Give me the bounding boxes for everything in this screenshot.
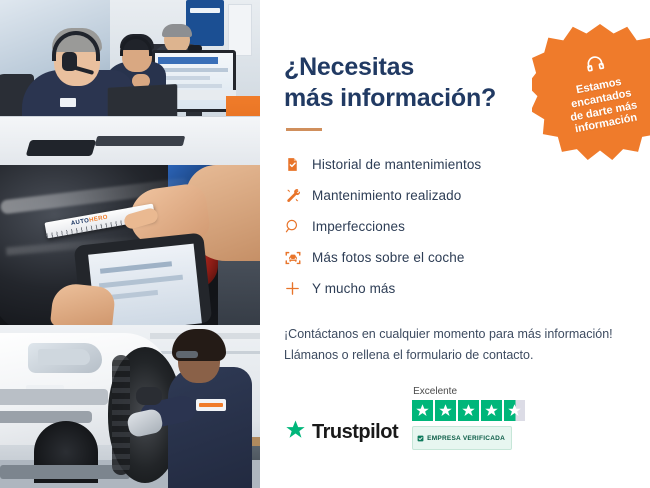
feature-label: Mantenimiento realizado	[312, 188, 461, 203]
trustpilot-star-icon	[284, 419, 307, 446]
photo1-agent1-name-badge	[60, 98, 76, 107]
contact-text: ¡Contáctanos en cualquier momento para m…	[284, 324, 650, 366]
contact-line-2: Llámanos o rellena el formulario de cont…	[284, 345, 650, 366]
feature-item-imperfecciones: Imperfecciones	[284, 211, 650, 242]
feature-item-mas-fotos: Más fotos sobre el coche	[284, 242, 650, 273]
verified-check-icon	[417, 429, 424, 447]
photo3-lower-grille	[0, 411, 92, 423]
trustpilot-star-filled	[481, 400, 502, 421]
photo3-headlight-inner	[38, 349, 90, 365]
photo3-mechanic-hand-upper	[136, 387, 162, 405]
badge-text: Estamos encantados de darte más informac…	[564, 73, 641, 137]
badge-content: Estamos encantados de darte más informac…	[520, 12, 650, 171]
clipboard-check-icon	[284, 156, 312, 173]
feature-label: Más fotos sobre el coche	[312, 250, 464, 265]
photo3-uniform-logo	[196, 399, 226, 411]
photo3-lift-arm	[0, 465, 130, 479]
feature-item-mantenimiento: Mantenimiento realizado	[284, 180, 650, 211]
status-badge-verified: EMPRESA VERIFICADA	[412, 426, 512, 450]
contact-line-1: ¡Contáctanos en cualquier momento para m…	[284, 324, 650, 345]
trustpilot-widget[interactable]: Trustpilot Excelente	[284, 386, 634, 450]
trustpilot-star-half	[504, 400, 525, 421]
headset-icon	[582, 51, 608, 81]
promo-badge: Estamos encantados de darte más informac…	[532, 24, 650, 160]
photo3-safety-glasses	[176, 351, 198, 358]
photo1-monitor-header-bar	[158, 57, 218, 64]
info-banner: AUTOHERO	[0, 0, 650, 488]
title-divider	[286, 128, 322, 131]
photo1-poster	[228, 4, 252, 56]
trustpilot-star-filled	[412, 400, 433, 421]
feature-list: Historial de mantenimientos Mantenimient…	[284, 149, 650, 304]
trustpilot-logo[interactable]: Trustpilot	[284, 419, 398, 450]
photo1-blue-signage	[186, 0, 224, 46]
plus-icon	[284, 280, 312, 297]
car-photo-frame-icon	[284, 249, 312, 267]
page-title-line1: ¿Necesitas	[284, 53, 414, 81]
photo1-tablet	[26, 140, 97, 156]
photo-mechanic-inspecting-tire	[0, 325, 260, 488]
trustpilot-rating: Excelente EMPRESA VERIFICADA	[412, 386, 525, 450]
feature-item-mucho-mas: Y mucho más	[284, 273, 650, 304]
trustpilot-star-filled	[458, 400, 479, 421]
feature-label: Imperfecciones	[312, 219, 405, 234]
verified-label: EMPRESA VERIFICADA	[427, 435, 505, 442]
photo-call-center-agents-with-headsets	[0, 0, 260, 165]
trustpilot-star-filled	[435, 400, 456, 421]
page-title-line2: más información?	[284, 84, 496, 112]
feature-label: Y mucho más	[312, 281, 395, 296]
photo1-person-far-hair	[162, 24, 192, 37]
feature-label: Historial de mantenimientos	[312, 157, 481, 172]
trustpilot-wordmark: Trustpilot	[312, 421, 398, 444]
photo3-tire-tread	[112, 355, 130, 475]
photo-column: AUTOHERO	[0, 0, 260, 488]
photo-inspection-ruler-on-car: AUTOHERO	[0, 165, 260, 325]
photo3-front-grille	[0, 389, 108, 405]
photo1-webcam	[188, 45, 202, 52]
tools-cross-icon	[284, 187, 312, 204]
photo3-mechanic-body	[168, 367, 252, 488]
trustpilot-rating-label: Excelente	[413, 386, 457, 397]
photo1-laptop-base	[95, 136, 185, 146]
trustpilot-stars	[412, 400, 525, 421]
magnifier-icon	[284, 218, 312, 235]
photo1-monitor-row	[158, 68, 228, 72]
